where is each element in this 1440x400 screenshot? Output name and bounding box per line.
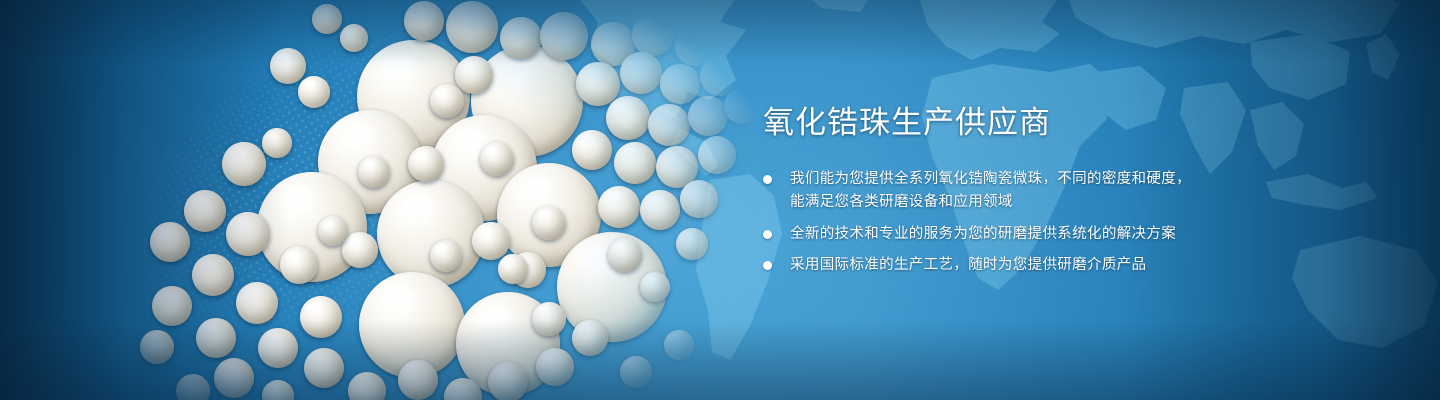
list-item-line-1: 全新的技术和专业的服务为您的研磨提供系统化的解决方案 (790, 226, 1176, 242)
bullet-dot-icon (763, 230, 772, 239)
feature-list: 我们能为您提供全系列氧化锆陶瓷微珠，不同的密度和硬度， 能满足您各类研磨设备和应… (763, 168, 1383, 278)
list-item-text: 采用国际标准的生产工艺，随时为您提供研磨介质产品 (790, 254, 1383, 278)
list-item: 采用国际标准的生产工艺，随时为您提供研磨介质产品 (763, 254, 1383, 278)
hero-banner: 氧化锆珠生产供应商 我们能为您提供全系列氧化锆陶瓷微珠，不同的密度和硬度， 能满… (0, 0, 1440, 400)
list-item-line-1: 采用国际标准的生产工艺，随时为您提供研磨介质产品 (790, 257, 1146, 273)
bullet-dot-icon (763, 261, 772, 270)
list-item-line-1: 我们能为您提供全系列氧化锆陶瓷微珠，不同的密度和硬度， (790, 171, 1191, 187)
list-item-line-2: 能满足您各类研磨设备和应用领域 (790, 191, 1383, 215)
bullet-dot-icon (763, 175, 772, 184)
list-item: 全新的技术和专业的服务为您的研磨提供系统化的解决方案 (763, 223, 1383, 247)
banner-copy: 氧化锆珠生产供应商 我们能为您提供全系列氧化锆陶瓷微珠，不同的密度和硬度， 能满… (763, 105, 1383, 278)
list-item-text: 全新的技术和专业的服务为您的研磨提供系统化的解决方案 (790, 223, 1383, 247)
list-item: 我们能为您提供全系列氧化锆陶瓷微珠，不同的密度和硬度， 能满足您各类研磨设备和应… (763, 168, 1383, 215)
page-title: 氧化锆珠生产供应商 (763, 105, 1383, 142)
list-item-text: 我们能为您提供全系列氧化锆陶瓷微珠，不同的密度和硬度， 能满足您各类研磨设备和应… (790, 168, 1383, 215)
